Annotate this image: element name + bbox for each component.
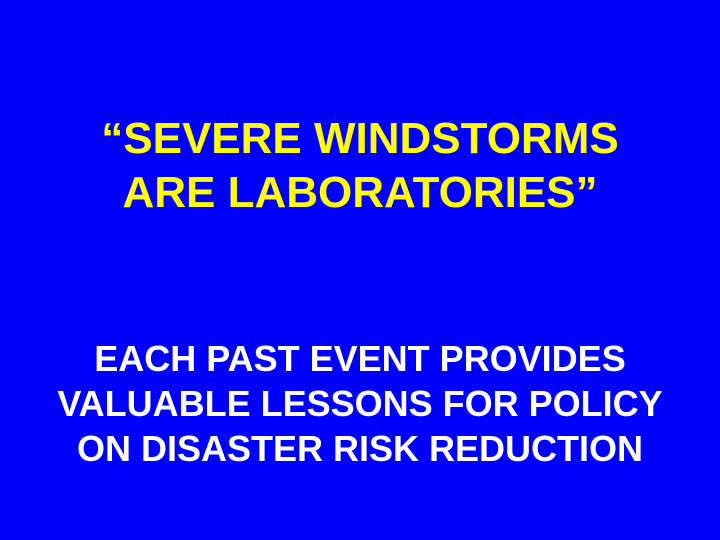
slide-title: “SEVERE WINDSTORMS ARE LABORATORIES” — [0, 112, 720, 220]
slide-body-line-1: EACH PAST EVENT PROVIDES — [0, 336, 720, 381]
slide-body-line-2: VALUABLE LESSONS FOR POLICY — [0, 381, 720, 426]
slide-body: EACH PAST EVENT PROVIDES VALUABLE LESSON… — [0, 336, 720, 471]
slide-title-line-1: “SEVERE WINDSTORMS — [0, 112, 720, 166]
slide-body-line-3: ON DISASTER RISK REDUCTION — [0, 426, 720, 471]
slide-title-line-2: ARE LABORATORIES” — [0, 166, 720, 220]
presentation-slide: “SEVERE WINDSTORMS ARE LABORATORIES” EAC… — [0, 0, 720, 540]
